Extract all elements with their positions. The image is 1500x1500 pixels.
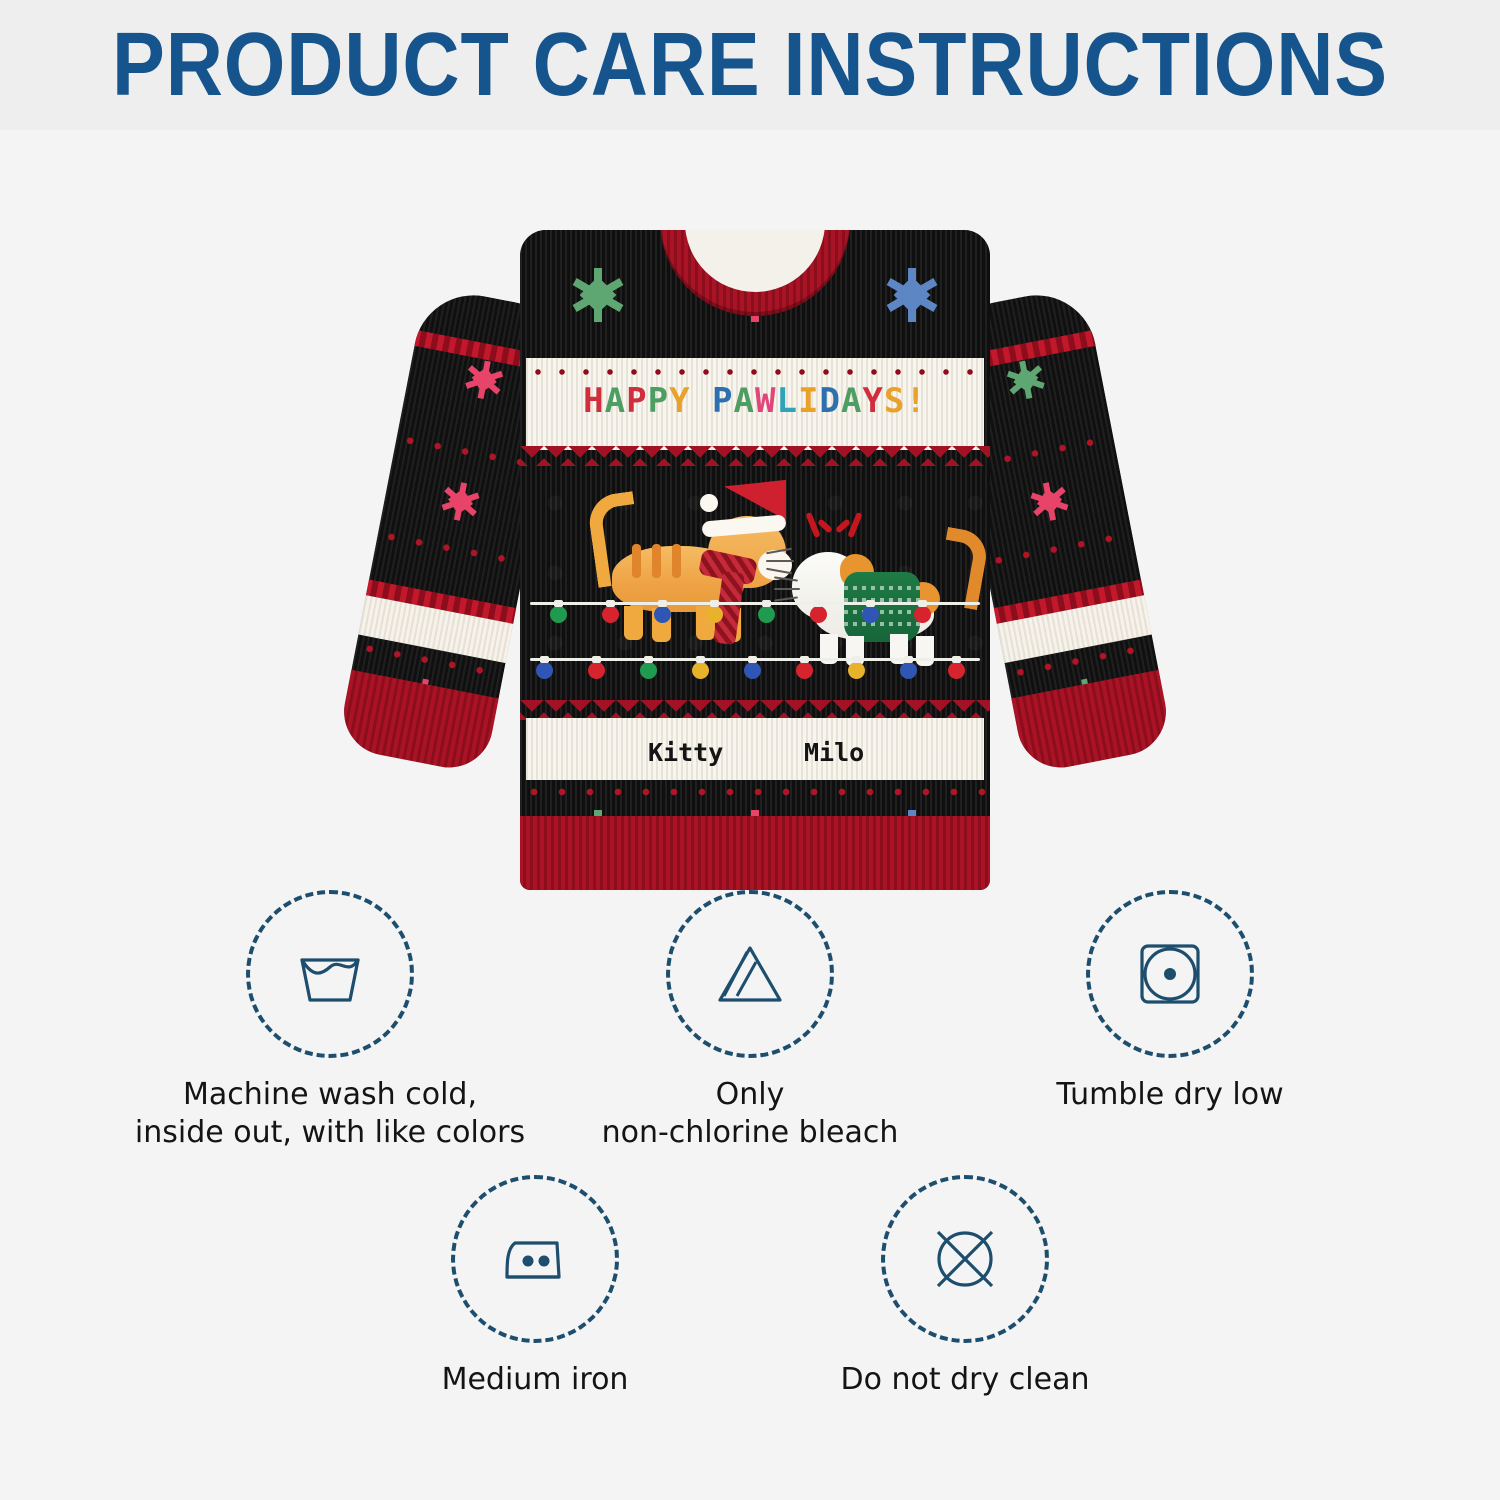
- greeting-letter: Y: [669, 384, 690, 418]
- care-row-2: Medium iron Do not dry clean: [0, 1175, 1500, 1399]
- greeting-letter: A: [841, 384, 862, 418]
- product-stage: HAPPY PAWLIDAYS!: [0, 130, 1500, 1500]
- sweater-right-cuff: [1002, 668, 1174, 775]
- greeting-letter: I: [798, 384, 819, 418]
- snowflake-icon: [1026, 478, 1073, 525]
- reindeer-antlers-icon: [804, 512, 868, 552]
- care-icon-circle: [451, 1175, 619, 1343]
- greeting-letter: Y: [862, 384, 883, 418]
- care-item-tumble-dry-low[interactable]: Tumble dry low: [960, 890, 1380, 1114]
- care-item-do-not-dry-clean[interactable]: Do not dry clean: [750, 1175, 1180, 1399]
- greeting-banner: HAPPY PAWLIDAYS!: [526, 358, 984, 450]
- greeting-letter: S: [884, 384, 905, 418]
- collar-inner: [685, 230, 825, 292]
- greeting-letter: L: [776, 384, 797, 418]
- machine-wash-icon: [282, 926, 378, 1022]
- greeting-letter: A: [734, 384, 755, 418]
- care-label: Tumble dry low: [1056, 1076, 1283, 1114]
- zigzag-border-top: [520, 446, 990, 466]
- greeting-letter: P: [626, 384, 647, 418]
- string-lights-row-1: [520, 596, 990, 638]
- care-item-non-chlorine-bleach[interactable]: Only non-chlorine bleach: [540, 890, 960, 1153]
- greeting-letter: P: [712, 384, 733, 418]
- care-icon-circle: [1086, 890, 1254, 1058]
- greeting-letter: P: [648, 384, 669, 418]
- greeting-letter: W: [755, 384, 776, 418]
- snowflake-icon: [1002, 356, 1049, 403]
- care-label: Medium iron: [442, 1361, 629, 1399]
- string-lights-row-2: [520, 652, 990, 694]
- pet-name-band: Kitty Milo: [526, 718, 984, 780]
- care-item-medium-iron[interactable]: Medium iron: [320, 1175, 750, 1399]
- care-label: Machine wash cold, inside out, with like…: [135, 1076, 525, 1153]
- greeting-letter: H: [583, 384, 604, 418]
- greeting-letter: !: [905, 384, 926, 418]
- greeting-letter: D: [819, 384, 840, 418]
- greeting-letter: A: [605, 384, 626, 418]
- care-item-machine-wash[interactable]: Machine wash cold, inside out, with like…: [120, 890, 540, 1153]
- sweater-hem: [520, 816, 990, 890]
- do-not-dry-clean-icon: [917, 1211, 1013, 1307]
- greeting-letter: [691, 384, 712, 418]
- care-icon-circle: [881, 1175, 1049, 1343]
- care-label: Only non-chlorine bleach: [602, 1076, 899, 1153]
- snowflake-icon: [461, 356, 508, 403]
- care-icon-circle: [246, 890, 414, 1058]
- medium-iron-icon: [487, 1211, 583, 1307]
- care-row-1: Machine wash cold, inside out, with like…: [0, 890, 1500, 1153]
- care-icon-circle: [666, 890, 834, 1058]
- sweater-body: HAPPY PAWLIDAYS!: [520, 230, 990, 890]
- page-title: PRODUCT CARE INSTRUCTIONS: [112, 20, 1388, 110]
- snowflake-icon: [437, 478, 484, 525]
- banner-diamond-border: [526, 364, 984, 380]
- page-header: PRODUCT CARE INSTRUCTIONS: [0, 0, 1500, 130]
- zigzag-border-bottom: [520, 700, 990, 720]
- sweater-left-cuff: [337, 668, 509, 775]
- cat-scene: [520, 468, 990, 698]
- care-instructions-grid: Machine wash cold, inside out, with like…: [0, 890, 1500, 1399]
- tumble-dry-low-icon: [1122, 926, 1218, 1022]
- non-chlorine-bleach-icon: [702, 926, 798, 1022]
- care-label: Do not dry clean: [840, 1361, 1089, 1399]
- pet-name-milo: Milo: [804, 738, 864, 767]
- greeting-text: HAPPY PAWLIDAYS!: [583, 384, 927, 418]
- pet-name-kitty: Kitty: [648, 738, 723, 767]
- product-image-sweater: HAPPY PAWLIDAYS!: [370, 175, 1140, 895]
